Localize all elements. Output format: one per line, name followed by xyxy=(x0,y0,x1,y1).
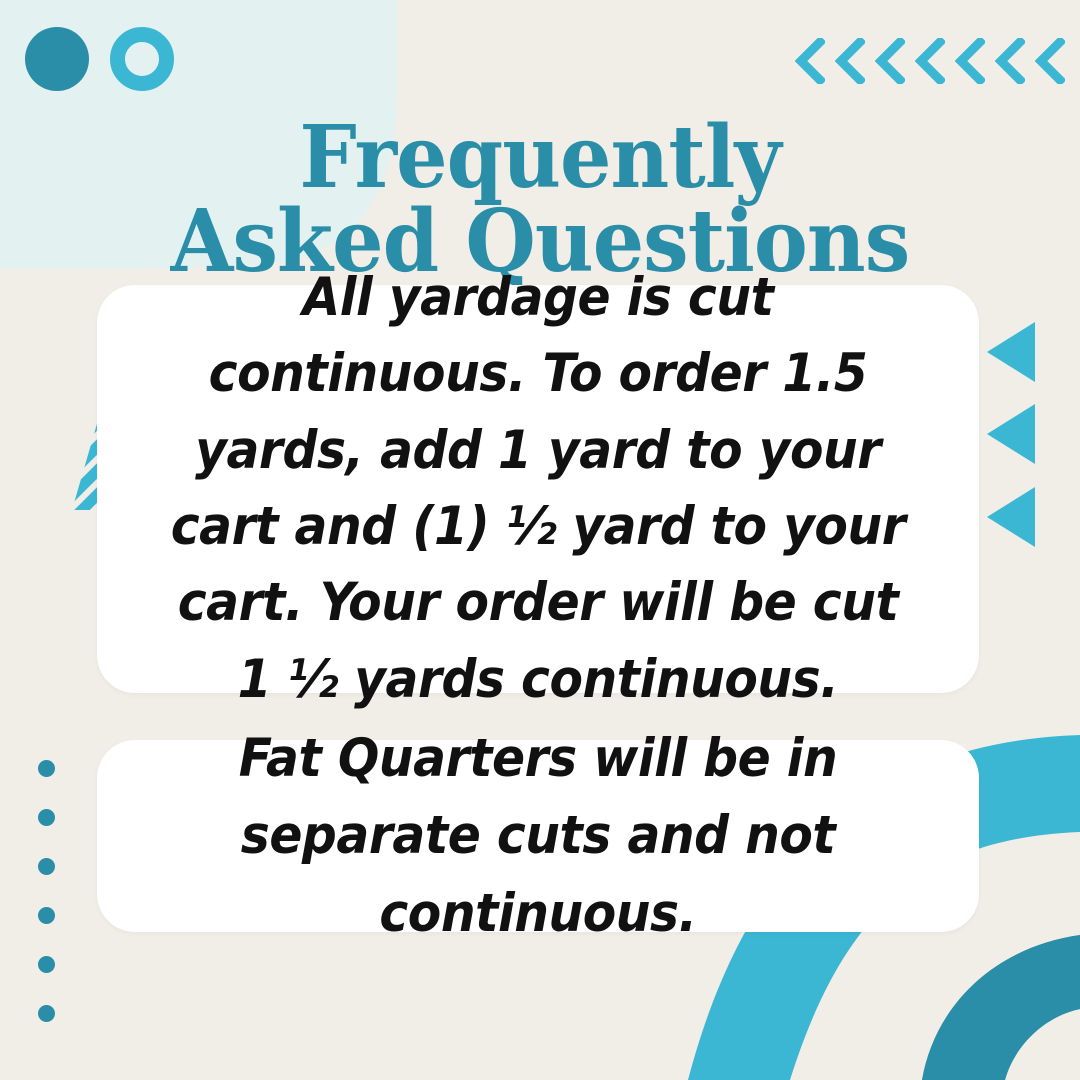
faq-graphic-canvas: Frequently Asked Questions xyxy=(0,0,1080,1080)
dot-icon xyxy=(38,760,55,777)
triangle-left-icon xyxy=(987,404,1035,464)
chevron-left-icon xyxy=(915,38,945,84)
chevron-left-icon xyxy=(995,38,1025,84)
dot-icon xyxy=(38,809,55,826)
circle-icon xyxy=(25,27,89,91)
faq-card-text: All yardage is cut continuous. To order … xyxy=(156,260,920,718)
chevron-left-icon xyxy=(795,38,825,84)
dot-icon xyxy=(38,1005,55,1022)
chevron-left-icon xyxy=(875,38,905,84)
triangle-left-icon xyxy=(987,322,1035,382)
triangle-left-icon xyxy=(987,487,1035,547)
page-title: Frequently Asked Questions xyxy=(32,116,1047,285)
chevron-left-icon xyxy=(955,38,985,84)
chevron-left-icon xyxy=(835,38,865,84)
dot-icon xyxy=(38,907,55,924)
faq-card-text: Fat Quarters will be in separate cuts an… xyxy=(156,720,920,952)
dot-icon xyxy=(38,956,55,973)
ring-circle-icon xyxy=(110,27,174,91)
faq-card: Fat Quarters will be in separate cuts an… xyxy=(97,740,979,932)
dot-icon xyxy=(38,858,55,875)
chevron-left-icon xyxy=(1035,38,1065,84)
dot-column xyxy=(38,760,55,1022)
chevron-row xyxy=(795,38,1065,84)
faq-card: All yardage is cut continuous. To order … xyxy=(97,285,979,693)
